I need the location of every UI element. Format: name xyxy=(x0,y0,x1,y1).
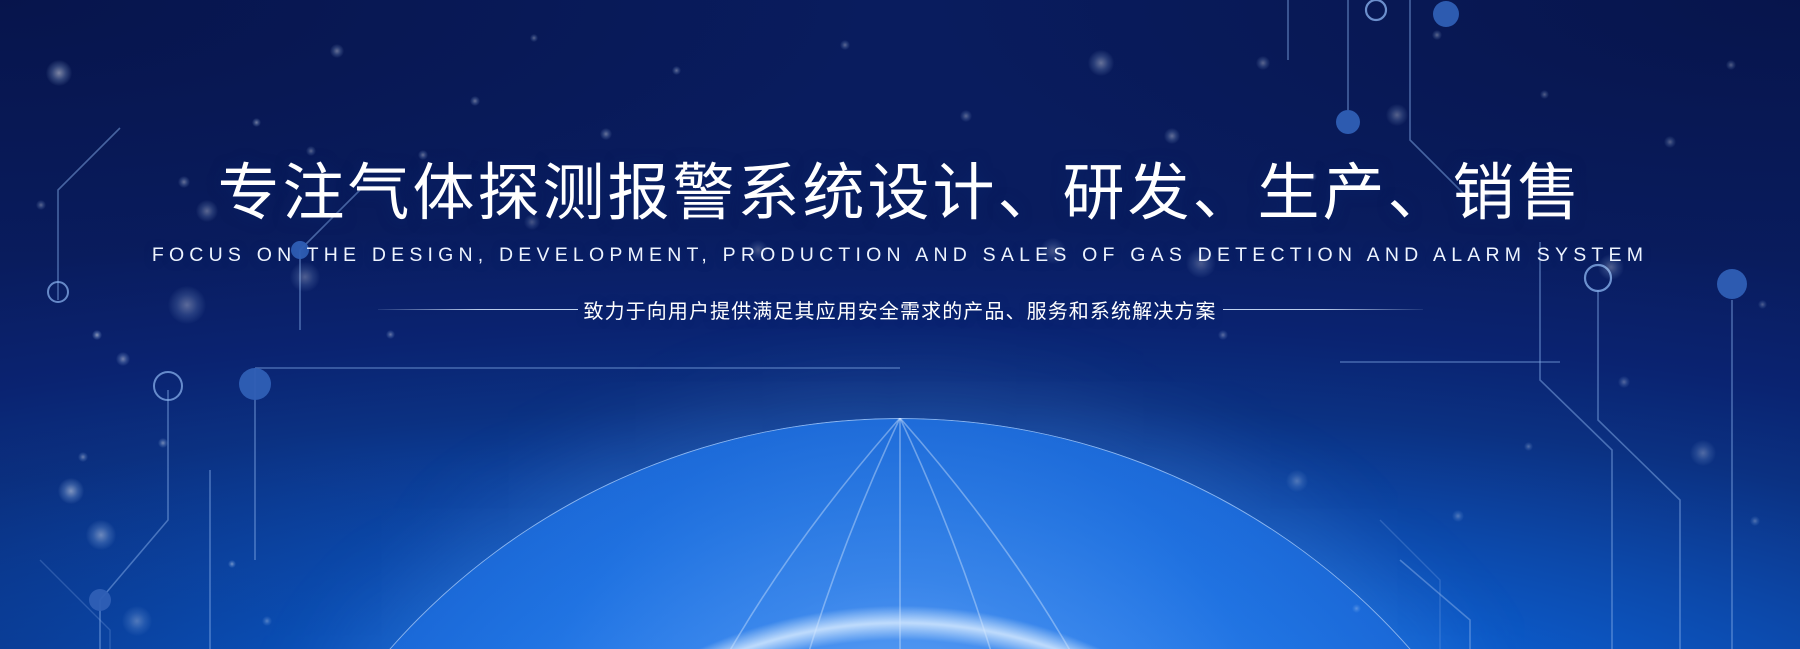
star-particle xyxy=(86,520,116,550)
banner-tagline-row: 致力于向用户提供满足其应用安全需求的产品、服务和系统解决方案 xyxy=(0,267,1800,324)
star-particle xyxy=(262,616,272,626)
star-particle xyxy=(158,438,168,448)
banner-subheadline: FOCUS ON THE DESIGN, DEVELOPMENT, PRODUC… xyxy=(0,225,1800,267)
star-particle xyxy=(228,560,236,568)
star-particle xyxy=(122,606,152,636)
star-particle xyxy=(1618,376,1630,388)
star-particle xyxy=(386,330,395,339)
globe-network-mesh xyxy=(220,418,1580,649)
star-particle xyxy=(92,330,102,340)
star-particle xyxy=(1690,440,1716,466)
star-particle xyxy=(1524,442,1533,451)
tagline-rule-right xyxy=(1223,309,1423,310)
latitude-arcs xyxy=(220,418,1580,649)
star-particle xyxy=(1750,516,1760,526)
hero-banner: 专注气体探测报警系统设计、研发、生产、销售 FOCUS ON THE DESIG… xyxy=(0,0,1800,649)
star-particle xyxy=(1452,510,1464,522)
circuit-bottom-traces xyxy=(40,520,1440,649)
star-particle xyxy=(116,352,130,366)
longitude-arcs xyxy=(600,418,1200,649)
globe-mesh-svg xyxy=(220,418,1580,649)
globe-sphere xyxy=(220,418,1580,649)
tagline-rule-left xyxy=(378,309,578,310)
globe-rim-glow xyxy=(220,418,1580,649)
star-particle xyxy=(1218,330,1228,340)
network-globe xyxy=(220,418,1580,649)
banner-text-block: 专注气体探测报警系统设计、研发、生产、销售 FOCUS ON THE DESIG… xyxy=(0,0,1800,324)
star-particle xyxy=(1286,470,1308,492)
banner-headline: 专注气体探测报警系统设计、研发、生产、销售 xyxy=(0,0,1800,225)
star-particle xyxy=(1352,604,1361,613)
star-particle xyxy=(58,478,84,504)
banner-tagline: 致力于向用户提供满足其应用安全需求的产品、服务和系统解决方案 xyxy=(578,295,1223,324)
star-particle xyxy=(78,452,88,462)
